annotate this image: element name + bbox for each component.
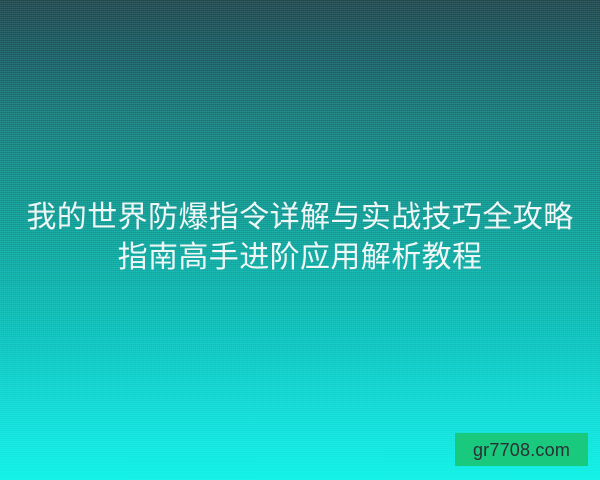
article-cover-banner: 我的世界防爆指令详解与实战技巧全攻略 指南高手进阶应用解析教程 gr7708.c…	[0, 0, 600, 480]
page-title: 我的世界防爆指令详解与实战技巧全攻略 指南高手进阶应用解析教程	[0, 198, 600, 278]
page-title-line-2: 指南高手进阶应用解析教程	[14, 238, 586, 278]
watermark-label: gr7708.com	[473, 441, 570, 459]
watermark-badge: gr7708.com	[455, 433, 588, 466]
page-title-line-1: 我的世界防爆指令详解与实战技巧全攻略	[14, 198, 586, 238]
